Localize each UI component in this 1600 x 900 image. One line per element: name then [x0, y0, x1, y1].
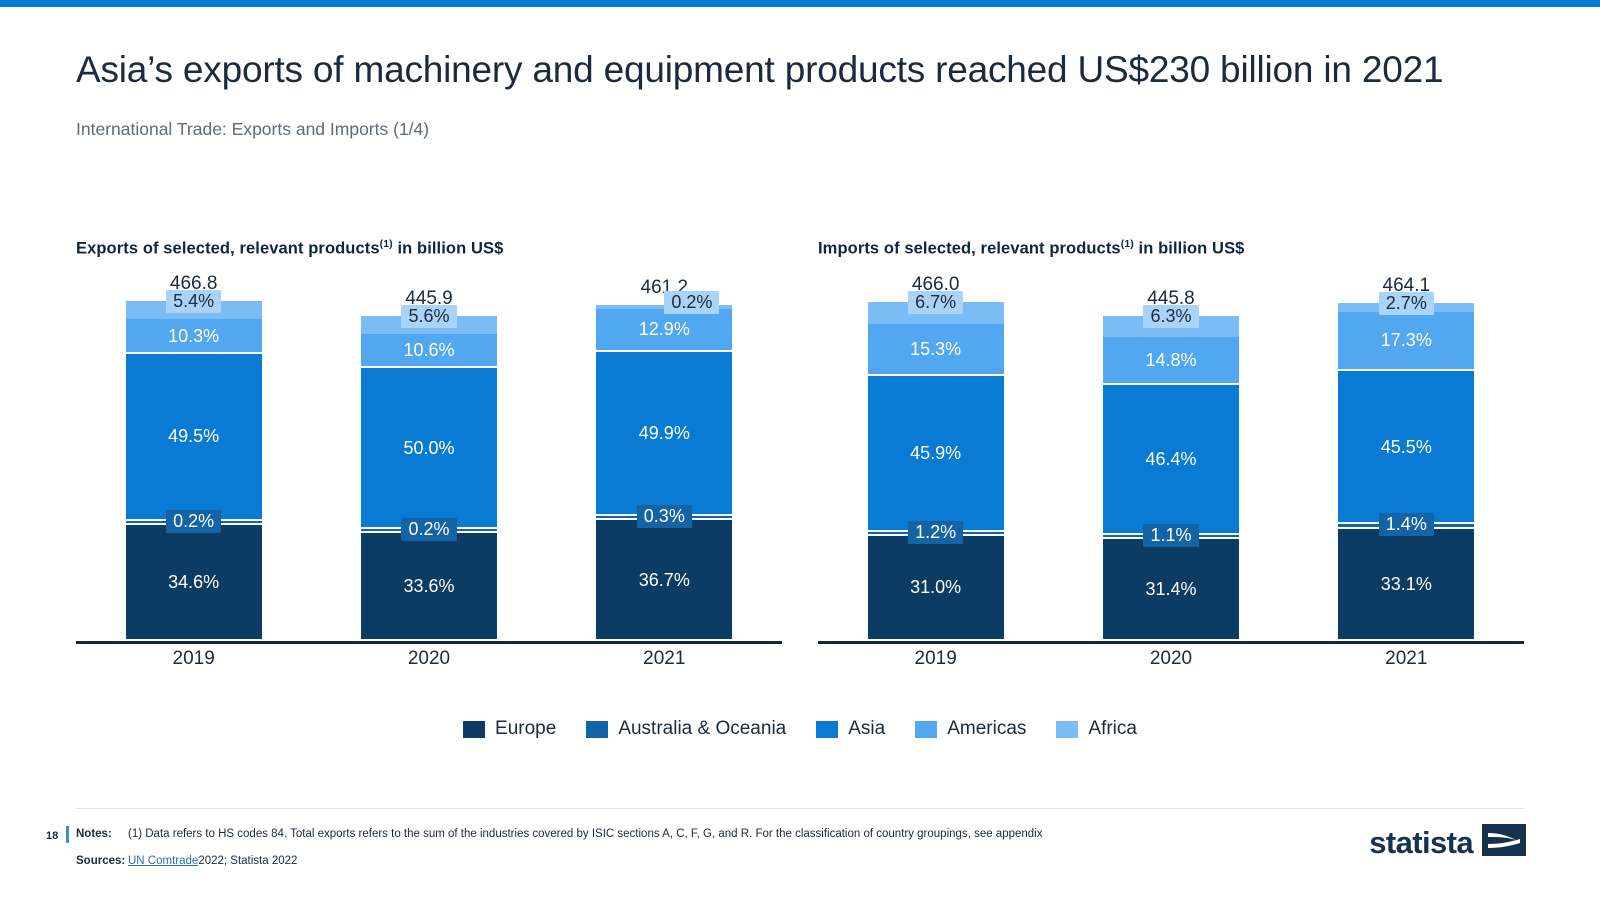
sources-text: 2022; Statista 2022: [198, 855, 297, 867]
x-tick-label: 2020: [1071, 648, 1271, 670]
bar-segment-label: 14.8%: [1145, 351, 1196, 369]
bar-group: 466.85.4%10.3%49.5%0.2%34.6%: [94, 274, 294, 641]
legend-item[interactable]: Asia: [816, 718, 885, 740]
legend-item[interactable]: Americas: [915, 718, 1026, 740]
legend-swatch-icon: [816, 721, 838, 738]
exports-plot-area: 466.85.4%10.3%49.5%0.2%34.6%445.95.6%10.…: [76, 274, 782, 674]
legend-item[interactable]: Australia & Oceania: [586, 718, 786, 740]
sources-link[interactable]: UN Comtrade: [128, 855, 198, 867]
legend-item[interactable]: Africa: [1056, 718, 1137, 740]
exports-x-tick-labels: 201920202021: [76, 644, 782, 674]
notes-label: Notes:: [76, 828, 128, 840]
sources-row: Sources: UN Comtrade 2022; Statista 2022: [76, 855, 297, 867]
bar-segment-asia[interactable]: 46.4%: [1103, 385, 1239, 535]
bar-segment-label: 1.1%: [1143, 524, 1198, 547]
exports-chart-title-main: Exports of selected, relevant products: [76, 240, 380, 258]
bar-segment-americas[interactable]: 14.8%: [1103, 337, 1239, 385]
bar-segment-africa[interactable]: 5.4%: [126, 301, 262, 319]
bar-segment-americas[interactable]: 10.3%: [126, 319, 262, 354]
page-subtitle: International Trade: Exports and Imports…: [76, 119, 1536, 140]
bar-segment-label: 1.4%: [1379, 513, 1434, 536]
x-tick-label: 2021: [564, 648, 764, 670]
imports-chart-title-footnote: (1): [1121, 238, 1134, 250]
bar-segment-label: 0.2%: [664, 291, 719, 314]
exports-chart-title-tail: in billion US$: [393, 240, 504, 258]
bar-segment-label: 1.2%: [908, 521, 963, 544]
bar-segment-americas[interactable]: 15.3%: [868, 324, 1004, 376]
bar-segment-label: 10.6%: [403, 341, 454, 359]
bar-segment-label: 0.3%: [637, 505, 692, 528]
statista-mark-icon: [1482, 824, 1526, 861]
slide-root: Asia’s exports of machinery and equipmen…: [0, 0, 1600, 900]
bar-group: 464.12.7%17.3%45.5%1.4%33.1%: [1306, 274, 1506, 641]
bar-segment-africa[interactable]: 5.6%: [361, 316, 497, 334]
legend-label: Australia & Oceania: [618, 718, 786, 740]
exports-chart-panel: Exports of selected, relevant products(1…: [76, 238, 782, 718]
bar-segment-africa[interactable]: 6.3%: [1103, 316, 1239, 336]
statista-wordmark: statista: [1369, 825, 1473, 861]
bar-segment-label: 31.4%: [1145, 580, 1196, 598]
legend-item[interactable]: Europe: [463, 718, 556, 740]
bar-segment-label: 45.5%: [1381, 438, 1432, 456]
exports-chart-title-footnote: (1): [380, 238, 393, 250]
bar-stack: 5.6%10.6%50.0%0.2%33.6%: [361, 316, 497, 641]
legend-label: Asia: [848, 718, 885, 740]
bar-segment-africa[interactable]: 6.7%: [868, 302, 1004, 325]
page-number-accent: [66, 826, 69, 843]
bar-group: 445.86.3%14.8%46.4%1.1%31.4%: [1071, 274, 1271, 641]
slide-header: Asia’s exports of machinery and equipmen…: [76, 46, 1536, 140]
imports-chart-title-main: Imports of selected, relevant products: [818, 240, 1121, 258]
bar-segment-americas[interactable]: 10.6%: [361, 334, 497, 368]
bar-stack: 2.7%17.3%45.5%1.4%33.1%: [1338, 303, 1474, 641]
bar-segment-africa[interactable]: 2.7%: [1338, 303, 1474, 312]
bar-segment-label: 10.3%: [168, 327, 219, 345]
notes-text: (1) Data refers to HS codes 84. Total ex…: [128, 828, 1042, 840]
bar-segment-label: 33.6%: [403, 577, 454, 595]
legend-swatch-icon: [1056, 721, 1078, 738]
bar-group: 466.06.7%15.3%45.9%1.2%31.0%: [836, 274, 1036, 641]
bar-stack: 5.4%10.3%49.5%0.2%34.6%: [126, 301, 262, 641]
legend-label: Americas: [947, 718, 1026, 740]
bar-segment-label: 46.4%: [1145, 450, 1196, 468]
bar-segment-americas[interactable]: 12.9%: [596, 309, 732, 352]
bar-segment-label: 45.9%: [910, 444, 961, 462]
chart-legend: EuropeAustralia & OceaniaAsiaAmericasAfr…: [0, 718, 1600, 740]
statista-logo: statista: [1369, 824, 1526, 861]
legend-label: Africa: [1088, 718, 1137, 740]
footer-divider: [76, 808, 1524, 809]
bar-segment-asia[interactable]: 49.9%: [596, 352, 732, 516]
x-tick-label: 2020: [329, 648, 529, 670]
bar-segment-asia[interactable]: 45.5%: [1338, 371, 1474, 525]
bar-segment-label: 6.7%: [908, 291, 963, 314]
bar-segment-label: 5.6%: [401, 305, 456, 328]
bar-segment-label: 6.3%: [1143, 305, 1198, 328]
bar-segment-label: 34.6%: [168, 573, 219, 591]
x-tick-label: 2021: [1306, 648, 1506, 670]
legend-swatch-icon: [586, 721, 608, 738]
imports-chart-title-tail: in billion US$: [1134, 240, 1245, 258]
charts-container: Exports of selected, relevant products(1…: [76, 238, 1524, 718]
imports-x-tick-labels: 201920202021: [818, 644, 1524, 674]
bar-segment-label: 15.3%: [910, 340, 961, 358]
bar-segment-europe[interactable]: 34.6%: [126, 525, 262, 641]
x-tick-label: 2019: [836, 648, 1036, 670]
bar-segment-label: 31.0%: [910, 578, 961, 596]
bar-segment-label: 0.2%: [166, 510, 221, 533]
bar-segment-label: 17.3%: [1381, 331, 1432, 349]
imports-chart-title: Imports of selected, relevant products(1…: [818, 238, 1524, 268]
bar-segment-label: 33.1%: [1381, 575, 1432, 593]
bar-segment-label: 5.4%: [166, 290, 221, 313]
imports-plot-area: 466.06.7%15.3%45.9%1.2%31.0%445.86.3%14.…: [818, 274, 1524, 674]
bar-segment-label: 49.9%: [639, 424, 690, 442]
bar-segment-europe[interactable]: 33.1%: [1338, 529, 1474, 641]
bar-group: 445.95.6%10.6%50.0%0.2%33.6%: [329, 274, 529, 641]
imports-chart-panel: Imports of selected, relevant products(1…: [818, 238, 1524, 718]
bar-segment-asia[interactable]: 49.5%: [126, 354, 262, 521]
exports-chart-title: Exports of selected, relevant products(1…: [76, 238, 782, 268]
legend-swatch-icon: [463, 721, 485, 738]
legend-swatch-icon: [915, 721, 937, 738]
bar-segment-asia[interactable]: 50.0%: [361, 368, 497, 529]
slide-footer: 18 Notes: (1) Data refers to HS codes 84…: [0, 808, 1600, 900]
bar-segment-europe[interactable]: 31.0%: [868, 536, 1004, 641]
bar-segment-label: 2.7%: [1379, 292, 1434, 315]
notes-row: Notes: (1) Data refers to HS codes 84. T…: [76, 828, 1042, 840]
page-title: Asia’s exports of machinery and equipmen…: [76, 46, 1506, 95]
bar-segment-europe[interactable]: 36.7%: [596, 520, 732, 641]
bar-segment-americas[interactable]: 17.3%: [1338, 312, 1474, 370]
bar-segment-label: 49.5%: [168, 427, 219, 445]
bar-segment-label: 36.7%: [639, 571, 690, 589]
bar-segment-label: 12.9%: [639, 320, 690, 338]
x-tick-label: 2019: [94, 648, 294, 670]
top-accent-bar: [0, 0, 1600, 7]
imports-bars: 466.06.7%15.3%45.9%1.2%31.0%445.86.3%14.…: [818, 274, 1524, 641]
legend-label: Europe: [495, 718, 556, 740]
bar-segment-europe[interactable]: 33.6%: [361, 533, 497, 641]
exports-bars: 466.85.4%10.3%49.5%0.2%34.6%445.95.6%10.…: [76, 274, 782, 641]
bar-stack: 6.3%14.8%46.4%1.1%31.4%: [1103, 316, 1239, 641]
bar-segment-europe[interactable]: 31.4%: [1103, 539, 1239, 641]
bar-segment-asia[interactable]: 45.9%: [868, 376, 1004, 532]
sources-label: Sources:: [76, 855, 128, 867]
bar-segment-label: 0.2%: [401, 518, 456, 541]
bar-group: 461.20.2%12.9%49.9%0.3%36.7%: [564, 274, 764, 641]
bar-stack: 0.2%12.9%49.9%0.3%36.7%: [596, 305, 732, 641]
bar-stack: 6.7%15.3%45.9%1.2%31.0%: [868, 302, 1004, 641]
bar-segment-label: 50.0%: [403, 439, 454, 457]
page-number: 18: [46, 830, 58, 842]
